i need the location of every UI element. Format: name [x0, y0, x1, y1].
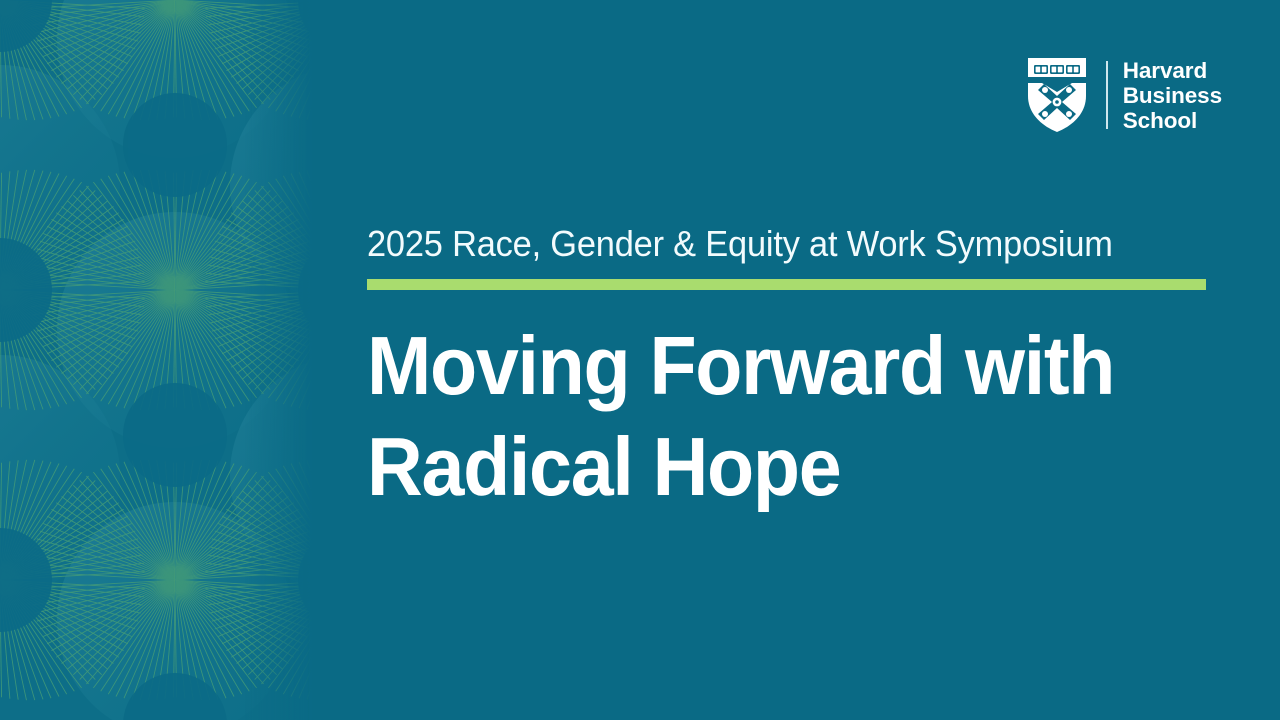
title-slide: Harvard Business School 2025 Race, Gende…	[0, 0, 1280, 720]
hbs-logo-lockup: Harvard Business School	[1026, 54, 1222, 136]
wordmark-line-school: School	[1123, 108, 1222, 133]
decorative-pattern-panel	[0, 0, 350, 720]
hbs-wordmark: Harvard Business School	[1123, 58, 1222, 133]
radial-fan-tile-pattern	[0, 0, 350, 720]
title-content: 2025 Race, Gender & Equity at Work Sympo…	[367, 222, 1212, 517]
headline-line-1: Moving Forward with	[367, 315, 1153, 416]
hbs-shield-icon	[1026, 56, 1088, 134]
wordmark-line-business: Business	[1123, 83, 1222, 108]
headline-line-2: Radical Hope	[367, 416, 1153, 517]
logo-divider	[1106, 61, 1108, 129]
accent-bar	[367, 279, 1206, 290]
page-title: Moving Forward with Radical Hope	[367, 315, 1153, 517]
symposium-eyebrow: 2025 Race, Gender & Equity at Work Sympo…	[367, 222, 1174, 266]
wordmark-line-harvard: Harvard	[1123, 58, 1222, 83]
